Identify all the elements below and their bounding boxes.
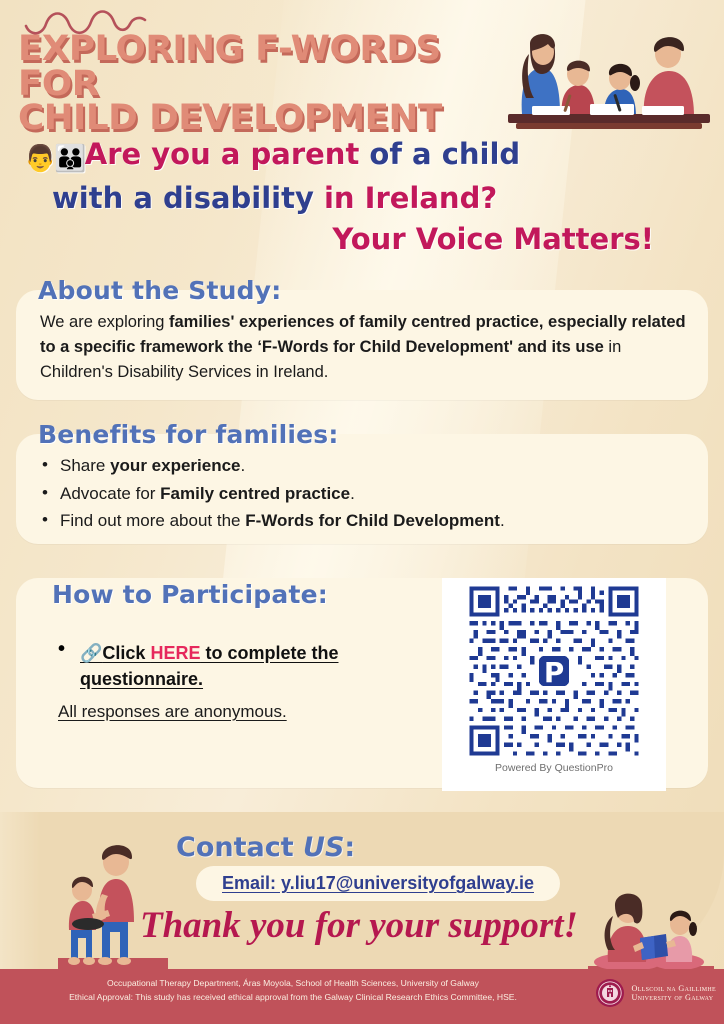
- family-at-table-illustration: [504, 18, 714, 133]
- questionnaire-link[interactable]: 🔗Click HERE to complete the questionnair…: [80, 643, 338, 689]
- benefit-3-post: .: [500, 511, 505, 530]
- title-line-2: CHILD DEVELOPMENT: [18, 101, 528, 136]
- benefit-1-post: .: [241, 456, 246, 475]
- benefit-3-pre: Find out more about the: [60, 511, 245, 530]
- father-and-son-illustration: [58, 822, 168, 972]
- click-pre: Click: [102, 643, 150, 663]
- qr-center-glyph: P: [544, 656, 564, 689]
- footer-bar: Occupational Therapy Department, Áras Mo…: [0, 969, 724, 1024]
- benefit-1-bold: your experience: [110, 456, 240, 475]
- about-body: We are exploring families' experiences o…: [40, 310, 690, 385]
- benefit-2-post: .: [350, 484, 355, 503]
- qr-code-image[interactable]: P: [456, 582, 652, 760]
- university-logo: Ollscoil na Gaillimhe University of Galw…: [595, 978, 716, 1008]
- university-name-english: University of Galway: [631, 993, 716, 1002]
- benefit-1-pre: Share: [60, 456, 110, 475]
- contact-heading-b: US: [303, 832, 344, 863]
- benefit-2-pre: Advocate for: [60, 484, 160, 503]
- about-text-1: We are exploring: [40, 313, 169, 331]
- list-item[interactable]: 🔗Click HERE to complete the questionnair…: [56, 640, 426, 692]
- university-crest-icon: [595, 978, 625, 1008]
- contact-heading-a: Contact: [176, 832, 303, 863]
- thank-you-message: Thank you for your support!: [140, 904, 578, 947]
- contact-heading: Contact US:: [176, 832, 355, 863]
- family-emoji: 👪: [54, 144, 84, 174]
- qr-caption: Powered By QuestionPro: [495, 762, 613, 774]
- email-pill[interactable]: Email: y.liu17@universityofgalway.ie: [196, 866, 560, 901]
- hero-line-3: Your Voice Matters!: [22, 219, 712, 260]
- title-line-1: EXPLORING F-WORDS FOR: [18, 32, 528, 101]
- hero-line-2: with a disability in Ireland?: [22, 178, 712, 219]
- about-heading: About the Study:: [38, 276, 281, 305]
- email-link[interactable]: Email: y.liu17@universityofgalway.ie: [222, 873, 534, 893]
- benefit-3-bold: F-Words for Child Development: [245, 511, 500, 530]
- poster-title: EXPLORING F-WORDS FOR CHILD DEVELOPMENT: [18, 32, 518, 136]
- hero-line1-part-b: of a child: [359, 137, 520, 171]
- hero-line-1: 👨👪Are you a parent of a child: [22, 134, 712, 178]
- footer-line-1: Occupational Therapy Department, Áras Mo…: [0, 976, 586, 990]
- contact-heading-c: :: [344, 832, 355, 863]
- participate-list: 🔗Click HERE to complete the questionnair…: [56, 640, 426, 692]
- person-emoji: 👨: [24, 144, 54, 174]
- list-item: Find out more about the F-Words for Chil…: [40, 507, 700, 535]
- hero-question: 👨👪Are you a parent of a child with a dis…: [22, 134, 712, 260]
- footer-text: Occupational Therapy Department, Áras Mo…: [0, 976, 586, 1004]
- hero-line1-part-a: Are you a parent: [85, 137, 360, 171]
- benefits-heading: Benefits for families:: [38, 420, 339, 449]
- qr-code-block[interactable]: P Powered By QuestionPro: [442, 578, 666, 791]
- hero-line2-part-b: in Ireland?: [324, 181, 497, 215]
- hero-line2-part-a: with a disability: [52, 181, 324, 215]
- list-item: Share your experience.: [40, 452, 700, 480]
- anonymous-note: All responses are anonymous.: [58, 702, 287, 722]
- benefits-list: Share your experience. Advocate for Fami…: [40, 452, 700, 535]
- benefit-2-bold: Family centred practice: [160, 484, 350, 503]
- mother-reading-illustration: [588, 882, 714, 978]
- link-icon: 🔗: [80, 643, 102, 663]
- footer-line-2: Ethical Approval: This study has receive…: [0, 990, 586, 1004]
- participate-heading: How to Participate:: [52, 580, 328, 609]
- poster-root: EXPLORING F-WORDS FOR CHILD DEVELOPMENT: [0, 0, 724, 1024]
- university-names: Ollscoil na Gaillimhe University of Galw…: [631, 984, 716, 1002]
- university-name-irish: Ollscoil na Gaillimhe: [631, 984, 716, 993]
- here-highlight[interactable]: HERE: [150, 643, 200, 663]
- list-item: Advocate for Family centred practice.: [40, 480, 700, 508]
